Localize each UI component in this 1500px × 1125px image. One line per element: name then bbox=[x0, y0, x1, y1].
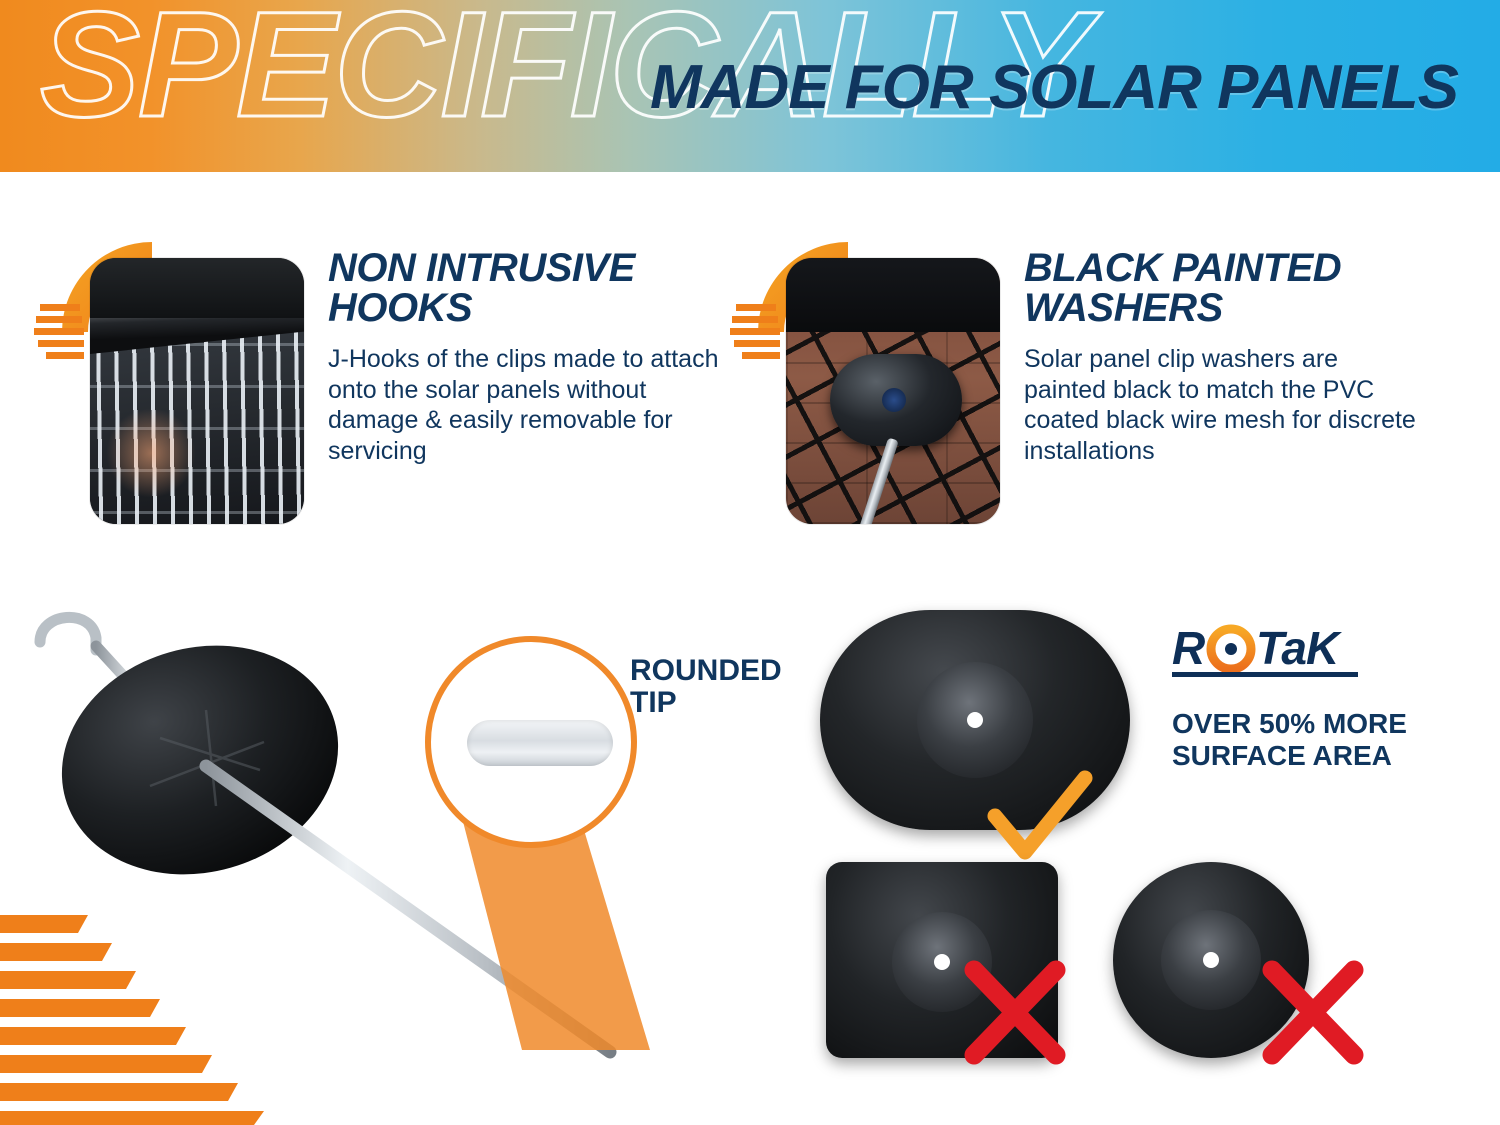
installed-washer bbox=[830, 354, 962, 446]
rounded-tip-zoom-circle bbox=[425, 636, 637, 848]
panel-edge bbox=[90, 258, 304, 318]
brand-tagline: OVER 50% MORE SURFACE AREA bbox=[1172, 708, 1472, 772]
brand-block: R TaK OVER 50% MORE SURFACE AREA bbox=[1172, 620, 1472, 772]
panel-edge bbox=[786, 258, 1000, 332]
washer-hub bbox=[1161, 910, 1261, 1010]
feature-text-washers: BLACK PAINTED WASHERS Solar panel clip w… bbox=[1024, 248, 1424, 466]
rotak-logo-icon: R TaK bbox=[1172, 620, 1400, 678]
washer-hub bbox=[917, 662, 1033, 778]
x-mark-icon bbox=[1258, 960, 1368, 1065]
feature-title: BLACK PAINTED WASHERS bbox=[1024, 248, 1424, 328]
check-mark-icon bbox=[985, 770, 1095, 870]
svg-text:R: R bbox=[1172, 622, 1205, 674]
svg-text:TaK: TaK bbox=[1256, 622, 1342, 674]
banner-title: MADE FOR SOLAR PANELS bbox=[650, 52, 1458, 123]
feature-thumb-wrap bbox=[32, 212, 252, 512]
rounded-tip-label-line2: TIP bbox=[630, 687, 782, 719]
feature-thumb-photo-washers bbox=[786, 258, 1000, 524]
light-glow bbox=[106, 408, 196, 498]
rod-rounded-tip bbox=[467, 720, 613, 766]
feature-thumb-wrap bbox=[728, 212, 948, 512]
photo-washer-on-mesh bbox=[786, 258, 1000, 524]
feature-text-hooks: NON INTRUSIVE HOOKS J-Hooks of the clips… bbox=[328, 248, 728, 466]
brand-tagline-line1: OVER 50% MORE bbox=[1172, 708, 1472, 740]
x-mark-icon bbox=[960, 960, 1070, 1065]
header-banner: SPECIFICALLY MADE FOR SOLAR PANELS bbox=[0, 0, 1500, 172]
feature-body: Solar panel clip washers are painted bla… bbox=[1024, 344, 1424, 466]
feature-thumb-photo-hooks bbox=[90, 258, 304, 524]
rounded-tip-label: ROUNDED TIP bbox=[630, 655, 782, 718]
photo-solar-panel-underside bbox=[90, 258, 304, 524]
brand-tagline-line2: SURFACE AREA bbox=[1172, 740, 1472, 772]
feature-title: NON INTRUSIVE HOOKS bbox=[328, 248, 728, 328]
feature-body: J-Hooks of the clips made to attach onto… bbox=[328, 344, 728, 466]
rounded-tip-label-line1: ROUNDED bbox=[630, 655, 782, 687]
brand-logo: R TaK bbox=[1172, 620, 1472, 686]
